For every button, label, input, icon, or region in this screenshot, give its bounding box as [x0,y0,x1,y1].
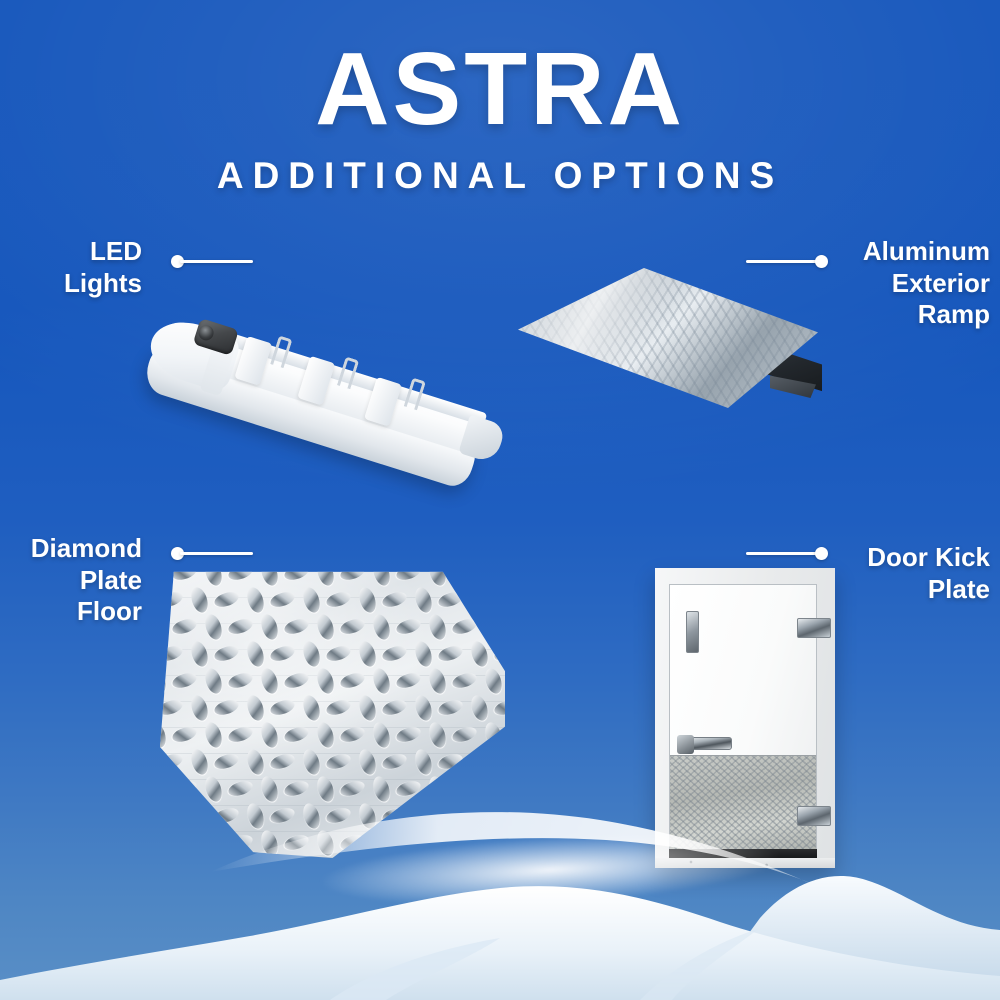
leader-line-door-kick-plate [746,546,828,560]
led-fixture-icon [140,316,507,499]
leader-line-led-lights [171,254,253,268]
leader-line-diamond-plate-floor [171,546,253,560]
product-image-led-lights [140,268,530,453]
product-image-aluminum-exterior-ramp [518,268,848,430]
leader-bar [746,260,819,263]
door-handle-icon [680,737,732,750]
footer-mountain-graphic [0,810,1000,1000]
leader-dot-icon [815,255,828,268]
mountain-svg [0,810,1000,1000]
poster-canvas: ASTRA ADDITIONAL OPTIONS LED Lights Alum… [0,0,1000,1000]
option-label-diamond-plate-floor: Diamond Plate Floor [6,533,142,628]
door-hinge-icon [797,618,831,638]
option-label-door-kick-plate: Door Kick Plate [830,542,990,605]
door-latch-rod [686,611,699,653]
option-label-aluminum-exterior-ramp: Aluminum Exterior Ramp [835,236,990,331]
page-subtitle: ADDITIONAL OPTIONS [0,155,1000,197]
poster-header: ASTRA ADDITIONAL OPTIONS [0,0,1000,197]
leader-bar [180,552,253,555]
leader-bar [746,552,819,555]
leader-bar [180,260,253,263]
leader-line-aluminum-exterior-ramp [746,254,828,268]
page-title: ASTRA [0,36,1000,141]
option-label-led-lights: LED Lights [12,236,142,299]
leader-dot-icon [815,547,828,560]
